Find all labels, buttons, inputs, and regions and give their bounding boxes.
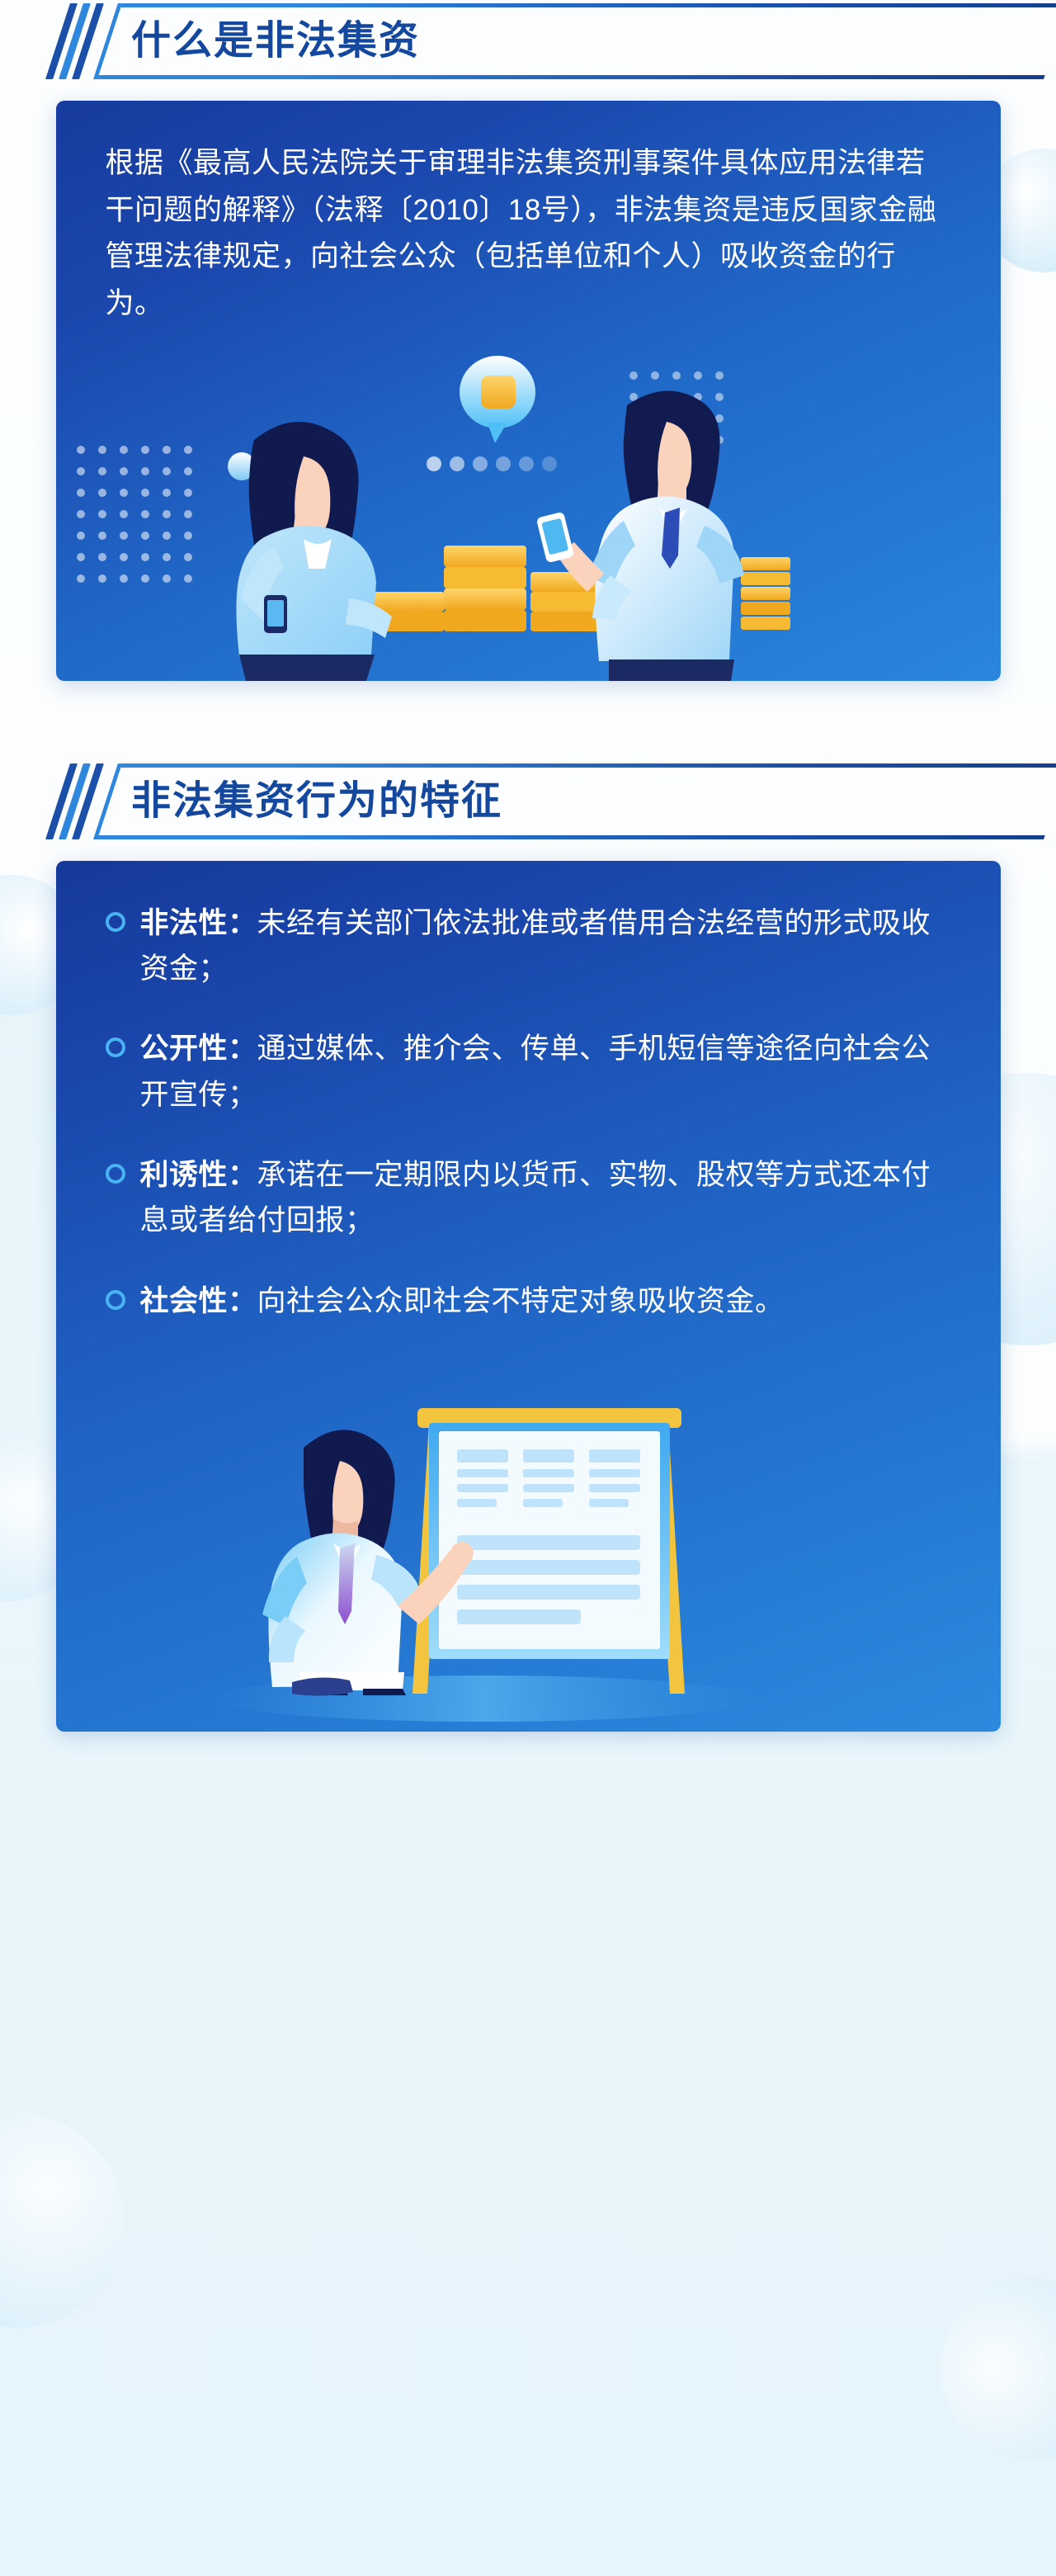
section-1-card: 根据《最高人民法院关于审理非法集资刑事案件具体应用法律若干问题的解释》（法释〔2… bbox=[56, 101, 1001, 681]
feature-detail: 通过媒体、推介会、传单、手机短信等途径向社会公开宣传； bbox=[140, 1033, 931, 1110]
section-1-heading: 什么是非法集资 bbox=[58, 0, 1056, 83]
section-1-title-frame: 什么是非法集资 bbox=[93, 3, 1056, 79]
decorative-circle-bottom-right bbox=[940, 2278, 1056, 2460]
section-2-heading: 非法集资行为的特征 bbox=[58, 760, 1056, 843]
illustration-1-svg bbox=[56, 351, 1001, 681]
circle-bullet-icon bbox=[106, 1037, 125, 1057]
woman-with-phone-figure bbox=[236, 422, 392, 681]
circle-bullet-icon bbox=[106, 912, 125, 932]
dot-row-icon bbox=[427, 456, 557, 471]
feature-separator: ： bbox=[228, 1159, 257, 1191]
list-item: 利诱性：承诺在一定期限内以货币、实物、股权等方式还本付息或者给付回报； bbox=[106, 1152, 951, 1244]
circle-bullet-icon bbox=[106, 1290, 125, 1310]
feature-separator: ： bbox=[228, 1285, 257, 1317]
feature-text: 社会性：向社会公众即社会不特定对象吸收资金。 bbox=[140, 1279, 785, 1324]
feature-term: 社会性 bbox=[140, 1285, 229, 1317]
section-2-card-body: 非法性：未经有关部门依法批准或者借用合法经营的形式吸收资金； 公开性：通过媒体、… bbox=[56, 861, 1001, 1332]
section-2-title-frame: 非法集资行为的特征 bbox=[93, 763, 1056, 839]
feature-term: 非法性 bbox=[140, 907, 229, 939]
feature-text: 利诱性：承诺在一定期限内以货币、实物、股权等方式还本付息或者给付回报； bbox=[140, 1152, 951, 1244]
section-2-title: 非法集资行为的特征 bbox=[131, 782, 502, 821]
list-item: 公开性：通过媒体、推介会、传单、手机短信等途径向社会公开宣传； bbox=[106, 1026, 951, 1118]
dot-grid-left-icon bbox=[77, 446, 192, 583]
illustration-2-svg bbox=[56, 1344, 1001, 1732]
feature-separator: ： bbox=[228, 1033, 257, 1065]
feature-term: 公开性 bbox=[140, 1033, 229, 1065]
list-item: 社会性：向社会公众即社会不特定对象吸收资金。 bbox=[106, 1279, 951, 1324]
page-title: 什么是非法集资 bbox=[131, 21, 420, 61]
section-what-is-illegal-fundraising: 什么是非法集资 根据《最高人民法院关于审理非法集资刑事案件具体应用法律若干问题的… bbox=[0, 0, 1056, 681]
feature-text: 非法性：未经有关部门依法批准或者借用合法经营的形式吸收资金； bbox=[140, 900, 951, 992]
feature-separator: ： bbox=[228, 907, 257, 939]
presenter-with-flipchart-illustration bbox=[56, 1344, 1001, 1732]
two-people-phone-coins-illustration bbox=[56, 351, 1001, 681]
circle-bullet-icon bbox=[106, 1164, 125, 1184]
section-characteristics: 非法集资行为的特征 非法性：未经有关部门依法批准或者借用合法经营的形式吸收资金； bbox=[0, 760, 1056, 1732]
feature-detail: 向社会公众即社会不特定对象吸收资金。 bbox=[257, 1285, 785, 1317]
man-with-smartphone-figure bbox=[535, 390, 743, 681]
speech-bubble-icon bbox=[460, 356, 535, 443]
feature-list: 非法性：未经有关部门依法批准或者借用合法经营的形式吸收资金； 公开性：通过媒体、… bbox=[106, 900, 951, 1324]
infographic-page: 什么是非法集资 根据《最高人民法院关于审理非法集资刑事案件具体应用法律若干问题的… bbox=[0, 0, 1056, 2576]
definition-paragraph: 根据《最高人民法院关于审理非法集资刑事案件具体应用法律若干问题的解释》（法释〔2… bbox=[106, 140, 951, 328]
section-2-card: 非法性：未经有关部门依法批准或者借用合法经营的形式吸收资金； 公开性：通过媒体、… bbox=[56, 861, 1001, 1732]
document-lines bbox=[457, 1449, 640, 1624]
list-item: 非法性：未经有关部门依法批准或者借用合法经营的形式吸收资金； bbox=[106, 900, 951, 992]
section-1-card-body: 根据《最高人民法院关于审理非法集资刑事案件具体应用法律若干问题的解释》（法释〔2… bbox=[56, 101, 1001, 336]
feature-text: 公开性：通过媒体、推介会、传单、手机短信等途径向社会公开宣传； bbox=[140, 1026, 951, 1118]
feature-detail: 承诺在一定期限内以货币、实物、股权等方式还本付息或者给付回报； bbox=[140, 1159, 931, 1236]
feature-detail: 未经有关部门依法批准或者借用合法经营的形式吸收资金； bbox=[140, 907, 931, 985]
feature-term: 利诱性 bbox=[140, 1159, 229, 1191]
decorative-circle-bottom-left bbox=[0, 2113, 124, 2328]
